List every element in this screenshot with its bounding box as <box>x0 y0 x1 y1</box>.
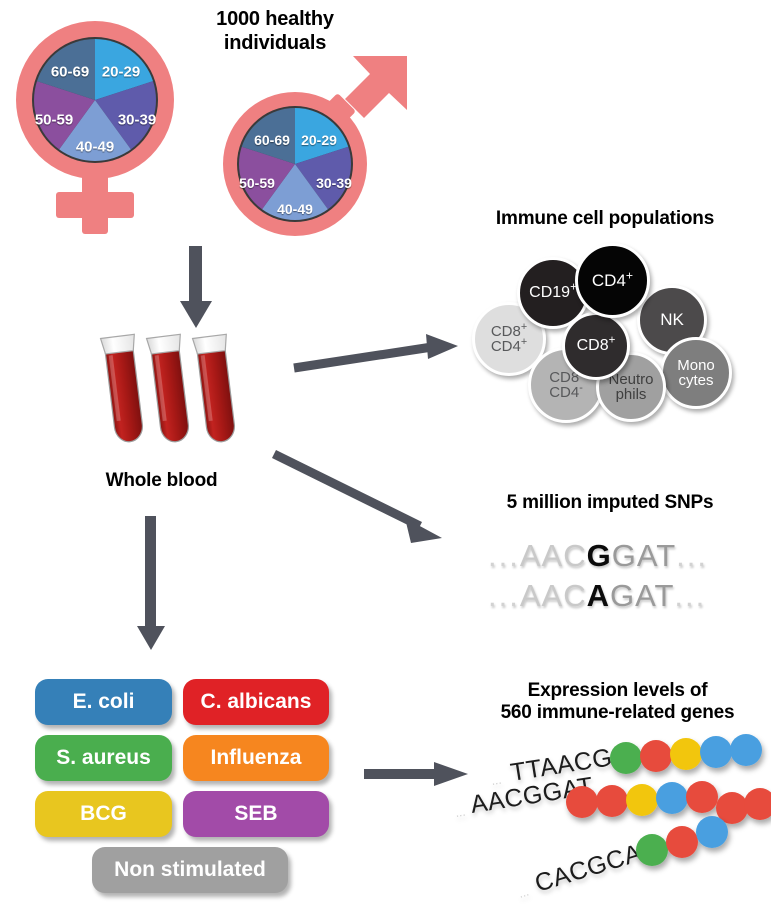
whole-blood-label: Whole blood <box>74 470 249 492</box>
bead <box>596 785 628 817</box>
arrow-blood-to-stimuli <box>134 516 170 652</box>
snp-sequence-row-1: ...AACGGAT... <box>488 538 708 574</box>
immune-cell-label: CD4+ <box>592 272 633 289</box>
bead <box>696 816 728 848</box>
strand-leading-dots: ... <box>517 885 531 901</box>
immune-cell-cluster: CD8+CD4+ CD8-CD4- Monocytes NK Neutrophi… <box>0 0 771 430</box>
snp-suffix: GAT <box>610 578 674 613</box>
bead <box>656 782 688 814</box>
bead <box>686 781 718 813</box>
bead <box>640 740 672 772</box>
arrow-blood-to-snps <box>272 450 452 550</box>
stimulus-label: C. albicans <box>201 690 312 714</box>
stimulus-influenza[interactable]: Influenza <box>183 735 329 781</box>
immune-cell-label: CD8+ <box>577 338 616 354</box>
arrow-stimuli-to-expression <box>364 760 470 790</box>
stimulus-label: Influenza <box>210 746 301 770</box>
snp-sequence-row-2: ...AACAGAT... <box>488 578 706 614</box>
bead <box>566 786 598 818</box>
stimulus-label: SEB <box>234 802 277 826</box>
expression-strand-3-beads <box>636 816 728 866</box>
snp-prefix: AAC <box>520 538 587 573</box>
stimulus-c-albicans[interactable]: C. albicans <box>183 679 329 725</box>
snp-suffix: GAT <box>612 538 676 573</box>
expression-strands: ... TTAACGG ... AACGGAT <box>460 740 771 920</box>
expression-title-line1: Expression levels of <box>470 680 765 702</box>
snp-variant-allele: G <box>587 538 612 573</box>
snp-trailing-dots: ... <box>676 538 708 573</box>
snp-leading-dots: ... <box>488 538 520 573</box>
bead <box>636 834 668 866</box>
expression-title-line2: 560 immune-related genes <box>470 702 765 724</box>
stimulus-non-stimulated[interactable]: Non stimulated <box>92 847 288 893</box>
immune-cell-cd8pos: CD8+ <box>562 312 630 380</box>
strand-leading-dots: ... <box>454 805 466 820</box>
snp-prefix: AAC <box>520 578 587 613</box>
expression-strand-1-beads <box>610 734 762 774</box>
stimulus-label: Non stimulated <box>114 858 266 882</box>
stimulus-label: E. coli <box>73 690 135 714</box>
stimulus-label: S. aureus <box>56 746 151 770</box>
snp-leading-dots: ... <box>488 578 520 613</box>
expression-strand-2-beads <box>566 781 771 824</box>
bead <box>626 784 658 816</box>
immune-cell-label: NK <box>660 311 684 328</box>
stimulus-label: BCG <box>80 802 127 826</box>
stimulus-e-coli[interactable]: E. coli <box>35 679 172 725</box>
immune-cell-label: CD8+CD4+ <box>491 324 527 355</box>
snps-title: 5 million imputed SNPs <box>465 492 755 514</box>
bead <box>666 826 698 858</box>
study-design-figure: 1000 healthy individuals <box>0 0 771 922</box>
immune-cell-label: CD19+ <box>529 285 577 301</box>
immune-cell-monocytes: Monocytes <box>660 337 732 409</box>
immune-cell-cd4pos: CD4+ <box>575 243 650 318</box>
snp-trailing-dots: ... <box>674 578 706 613</box>
stimulus-s-aureus[interactable]: S. aureus <box>35 735 172 781</box>
bead <box>744 788 771 820</box>
bead <box>670 738 702 770</box>
snp-variant-allele: A <box>587 578 610 613</box>
bead <box>610 742 642 774</box>
stimulus-bcg[interactable]: BCG <box>35 791 172 837</box>
immune-cell-label: Neutrophils <box>608 372 653 403</box>
stimulus-seb[interactable]: SEB <box>183 791 329 837</box>
immune-cell-label: Monocytes <box>677 358 715 389</box>
bead <box>700 736 732 768</box>
expression-title: Expression levels of 560 immune-related … <box>470 680 765 725</box>
bead <box>730 734 762 766</box>
